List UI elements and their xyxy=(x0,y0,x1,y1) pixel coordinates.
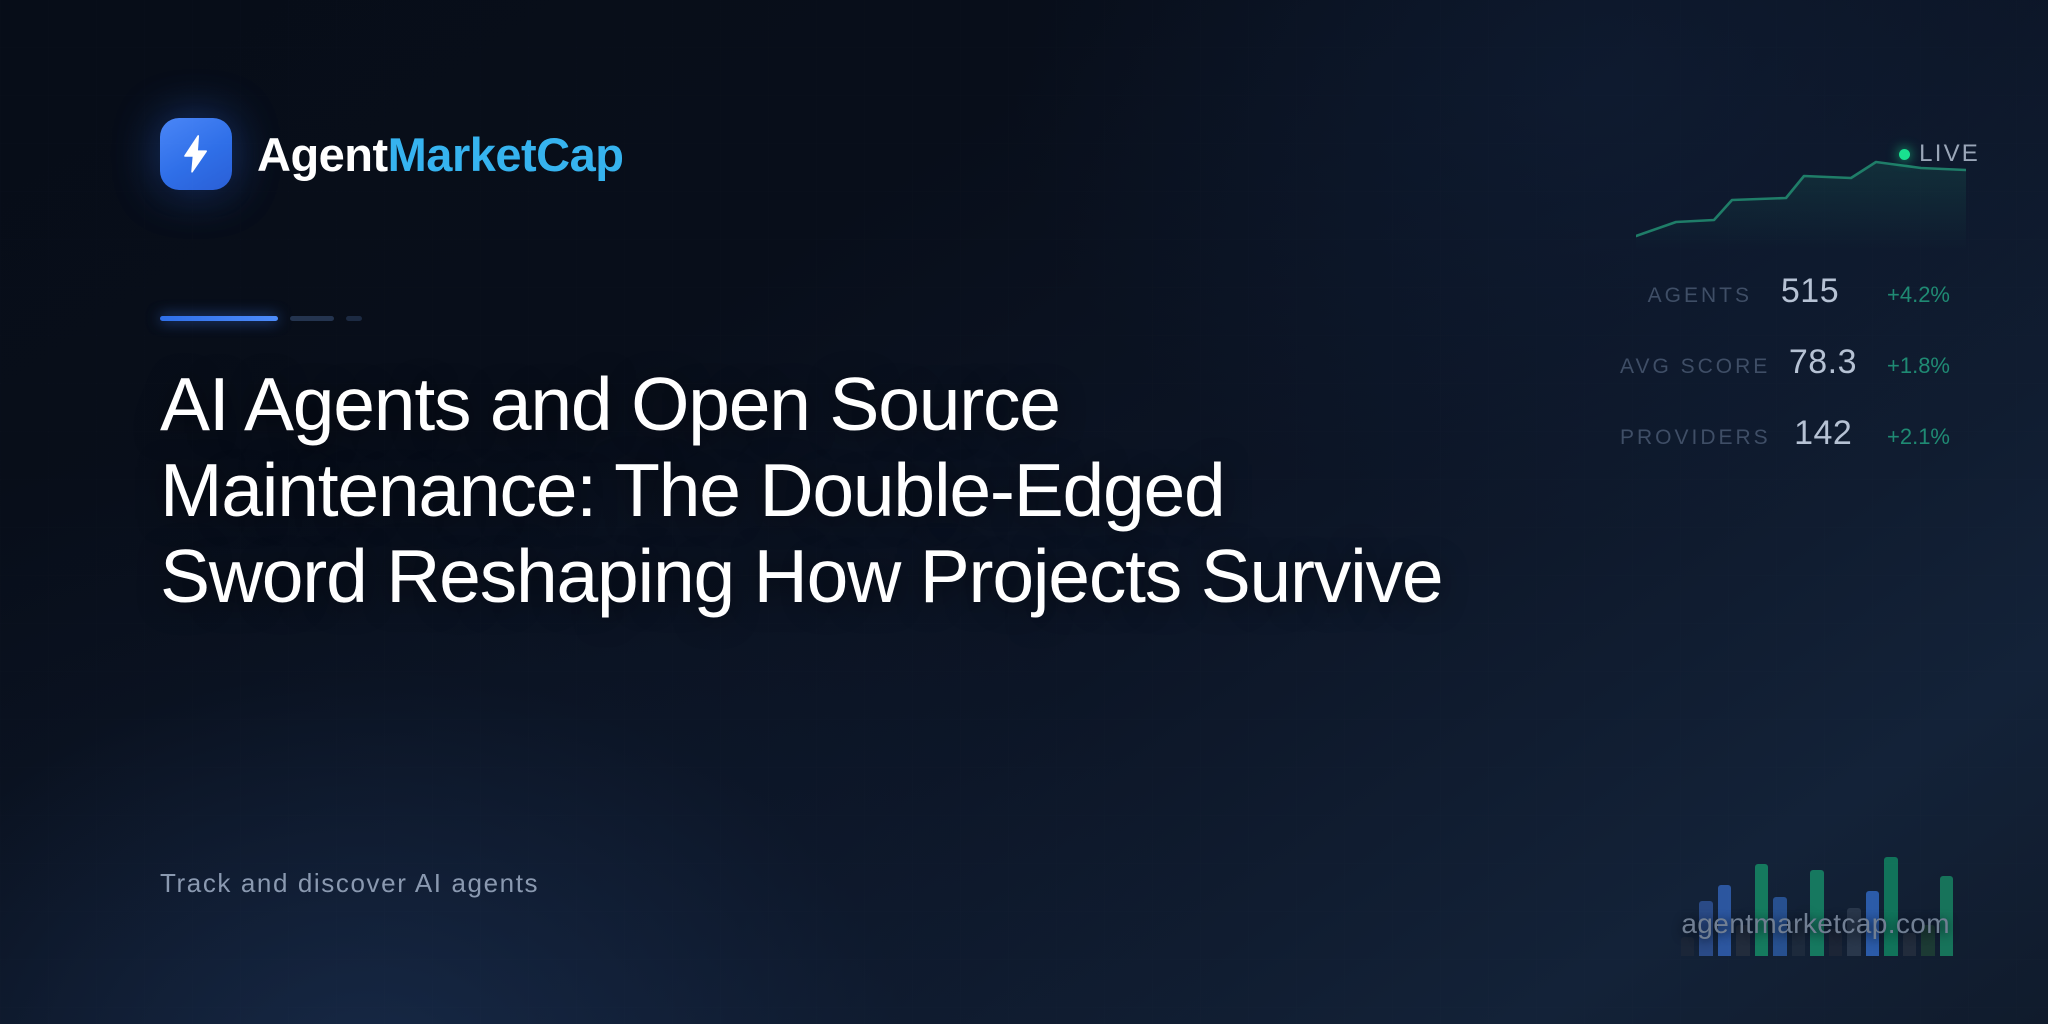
stat-row: AVG SCORE 78.3 +1.8% xyxy=(1620,343,1950,414)
stat-label: AVG SCORE xyxy=(1620,355,1770,379)
stat-label: PROVIDERS xyxy=(1620,426,1771,450)
stat-value: 78.3 xyxy=(1770,343,1875,382)
brand-name-primary: Agent xyxy=(257,128,388,181)
tagline: Track and discover AI agents xyxy=(160,868,539,899)
accent-segment-1 xyxy=(160,316,278,321)
brand-name: AgentMarketCap xyxy=(257,131,623,178)
lightning-bolt-icon xyxy=(179,134,213,174)
brand-name-secondary: MarketCap xyxy=(388,128,624,181)
brand-lockup: AgentMarketCap xyxy=(160,118,623,190)
page-title: AI Agents and Open Source Maintenance: T… xyxy=(160,362,1450,620)
stat-value: 142 xyxy=(1771,414,1876,453)
live-indicator-dot xyxy=(1899,149,1910,160)
stat-delta: +1.8% xyxy=(1876,353,1950,379)
accent-bar xyxy=(160,316,362,321)
accent-segment-3 xyxy=(346,316,362,321)
bar xyxy=(1884,857,1897,956)
stat-delta: +4.2% xyxy=(1868,282,1950,308)
stat-value: 515 xyxy=(1752,272,1868,311)
site-url: agentmarketcap.com xyxy=(1681,908,1950,940)
stat-row: AGENTS 515 +4.2% xyxy=(1620,272,1950,343)
app-logo-tile xyxy=(160,118,232,190)
stat-label: AGENTS xyxy=(1620,284,1752,308)
footer-bar-chart xyxy=(1681,851,1953,956)
stat-row: PROVIDERS 142 +2.1% xyxy=(1620,414,1950,485)
stats-panel: AGENTS 515 +4.2% AVG SCORE 78.3 +1.8% PR… xyxy=(1620,272,1950,485)
accent-segment-2 xyxy=(290,316,334,321)
social-card-canvas: AgentMarketCap AI Agents and Open Source… xyxy=(0,0,2048,1024)
live-status-badge: LIVE xyxy=(1899,140,1980,168)
bar-group xyxy=(1681,851,1953,956)
stat-delta: +2.1% xyxy=(1876,424,1950,450)
live-label: LIVE xyxy=(1919,140,1980,168)
